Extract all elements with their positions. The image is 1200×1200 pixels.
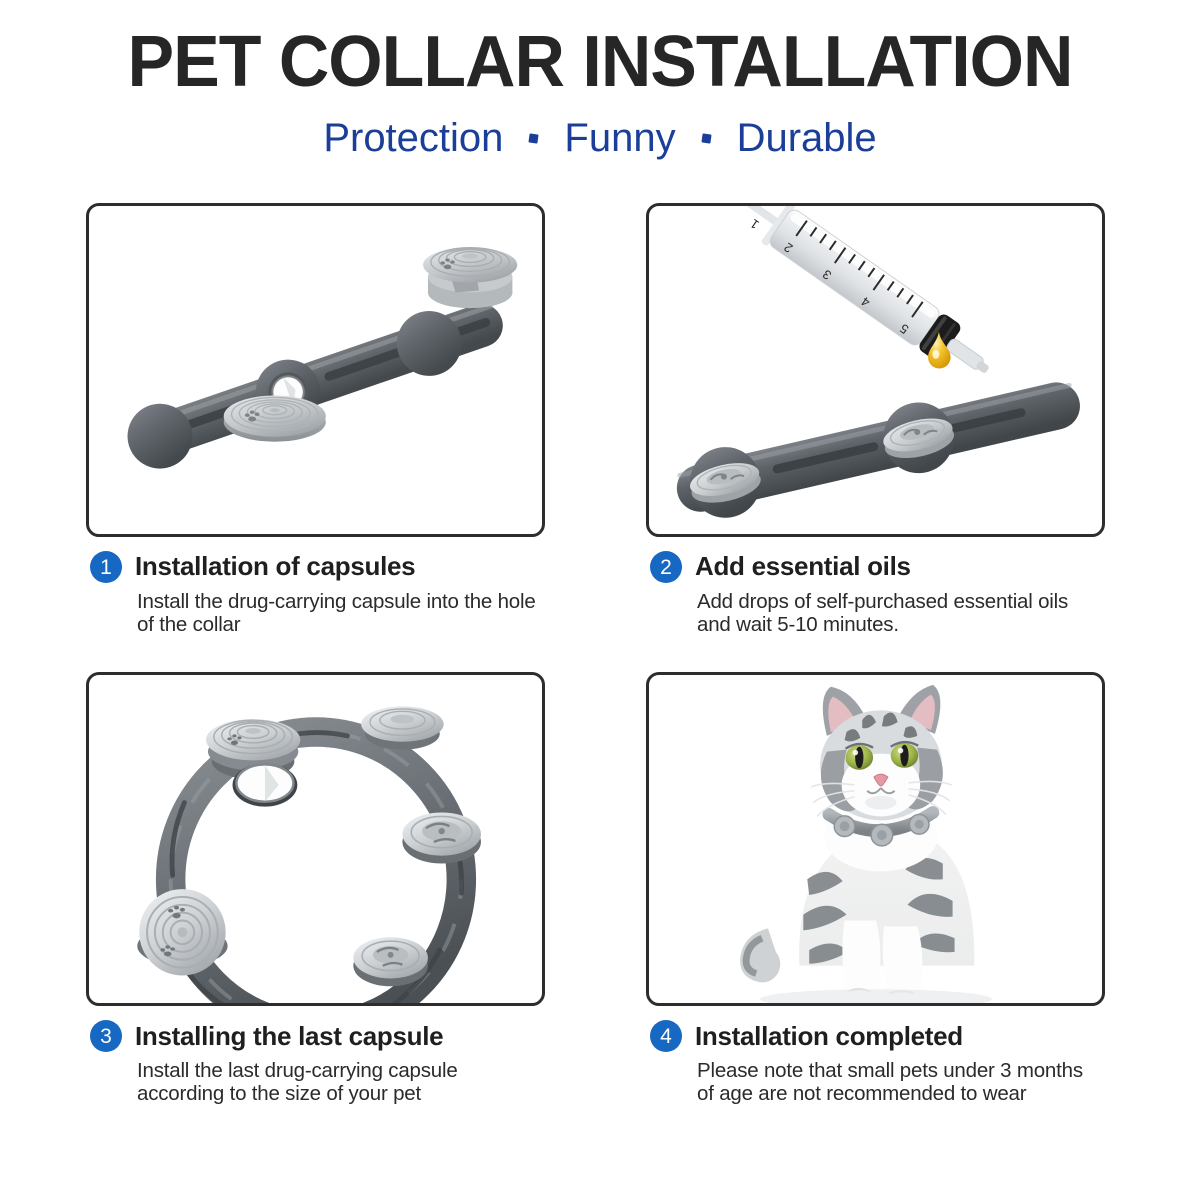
subtitle-word-durable: Durable — [737, 118, 877, 158]
subtitle-row: Protection Funny Durable — [0, 118, 1200, 158]
step-image-panel-2: 5 4 3 2 1 — [646, 203, 1105, 537]
step-title-3: Installing the last capsule — [135, 1023, 443, 1050]
capsule-right-lower — [353, 938, 428, 987]
step-title-1: Installation of capsules — [135, 553, 415, 580]
steps-grid: 1 Installation of capsules Install the d… — [86, 203, 1114, 1106]
step-caption-3: 3 Installing the last capsule Install th… — [86, 1006, 545, 1105]
infographic-page: PET COLLAR INSTALLATION Protection Funny… — [0, 0, 1200, 1200]
step-heading-1: 1 Installation of capsules — [90, 551, 545, 583]
step-badge-4: 4 — [650, 1020, 682, 1052]
step-card-2: 5 4 3 2 1 — [646, 203, 1105, 636]
step-image-panel-3 — [86, 672, 545, 1006]
step-card-1: 1 Installation of capsules Install the d… — [86, 203, 545, 636]
step-image-panel-4 — [646, 672, 1105, 1006]
capsule-right-upper — [402, 813, 481, 864]
step-caption-2: 2 Add essential oils Add drops of self-p… — [646, 537, 1105, 636]
syringe: 5 4 3 2 1 — [701, 206, 1002, 391]
svg-text:1: 1 — [747, 216, 761, 232]
step-card-3: 3 Installing the last capsule Install th… — [86, 672, 545, 1105]
step-title-4: Installation completed — [695, 1023, 963, 1050]
header: PET COLLAR INSTALLATION Protection Funny… — [0, 0, 1200, 158]
step-caption-4: 4 Installation completed Please note tha… — [646, 1006, 1105, 1105]
subtitle-word-protection: Protection — [323, 118, 503, 158]
step-badge-1: 1 — [90, 551, 122, 583]
empty-capsule-hole — [233, 764, 298, 807]
step-image-panel-1 — [86, 203, 545, 537]
page-title: PET COLLAR INSTALLATION — [18, 26, 1182, 98]
step-heading-2: 2 Add essential oils — [650, 551, 1105, 583]
step-description-4: Please note that small pets under 3 mont… — [697, 1059, 1105, 1105]
syringe-dropping-oil-onto-collar-illustration: 5 4 3 2 1 — [649, 206, 1102, 534]
step-description-3: Install the last drug-carrying capsule a… — [137, 1059, 545, 1105]
cat-wearing-collar-photo — [649, 675, 1102, 1003]
subtitle-separator-dot — [529, 133, 539, 143]
subtitle-word-funny: Funny — [564, 118, 675, 158]
step-title-2: Add essential oils — [695, 553, 911, 580]
detached-capsule — [423, 247, 517, 308]
collar-ring-with-capsules-illustration — [89, 675, 542, 1003]
subtitle-separator-dot — [701, 133, 711, 143]
step-description-1: Install the drug-carrying capsule into t… — [137, 590, 545, 636]
step-badge-2: 2 — [650, 551, 682, 583]
step-heading-4: 4 Installation completed — [650, 1020, 1105, 1052]
step-caption-1: 1 Installation of capsules Install the d… — [86, 537, 545, 636]
collar-strap-with-detached-capsule-illustration — [89, 206, 542, 534]
collar-strap — [670, 366, 1088, 528]
installed-capsule — [224, 396, 326, 442]
step-card-4: 4 Installation completed Please note tha… — [646, 672, 1105, 1105]
step-description-2: Add drops of self-purchased essential oi… — [697, 590, 1105, 636]
cat — [740, 685, 974, 1003]
collar-strap — [119, 288, 512, 477]
capsule-top-right — [361, 707, 443, 750]
step-heading-3: 3 Installing the last capsule — [90, 1020, 545, 1052]
step-badge-3: 3 — [90, 1020, 122, 1052]
